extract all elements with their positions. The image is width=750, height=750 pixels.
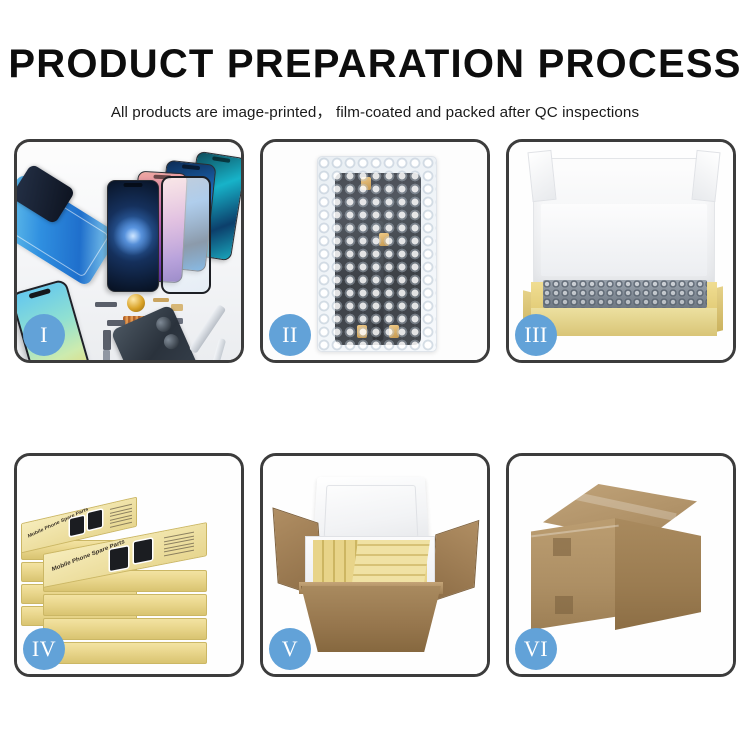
step-badge-6: VI	[515, 628, 557, 670]
product-preparation-infographic: PRODUCT PREPARATION PROCESS All products…	[0, 0, 750, 750]
step-badge-2: II	[269, 314, 311, 356]
step-3-image: III	[509, 142, 733, 360]
header: PRODUCT PREPARATION PROCESS All products…	[0, 0, 750, 122]
step-2-image: II	[263, 142, 487, 360]
part-connector-1	[95, 302, 117, 307]
step-1-image: I	[17, 142, 241, 360]
carton-right-face	[615, 518, 701, 630]
step-6-image: VI	[509, 456, 733, 674]
process-step-1: I	[14, 139, 244, 363]
page-subtitle: All products are image-printed， film-coa…	[0, 84, 750, 122]
step-badge-5: V	[269, 628, 311, 670]
stacked-box	[43, 618, 207, 640]
carton-tape-seal-bottom	[555, 596, 573, 614]
gold-tab-4	[389, 325, 399, 338]
process-step-2: II	[260, 139, 490, 363]
process-step-grid: I II	[14, 139, 736, 677]
carton-body	[301, 586, 441, 652]
part-battery	[103, 350, 110, 360]
step-5-image: V	[263, 456, 487, 674]
gold-coil-icon	[127, 294, 145, 312]
page-title: PRODUCT PREPARATION PROCESS	[0, 0, 750, 84]
phone-fan-group	[87, 150, 237, 295]
step-badge-3: III	[515, 314, 557, 356]
step-badge-1: I	[23, 314, 65, 356]
carton-tape-seal-top	[553, 538, 571, 556]
process-step-4: Mobile Phone Spare Parts	[14, 453, 244, 677]
step-4-image: Mobile Phone Spare Parts	[17, 456, 241, 674]
wrapped-phone-part	[335, 173, 421, 345]
gold-tab-1	[361, 177, 371, 190]
gold-tab-2	[379, 233, 389, 246]
kraft-box-front-panel	[531, 308, 717, 336]
tempered-glass-protector-icon	[161, 176, 211, 294]
step-badge-4: IV	[23, 628, 65, 670]
stacked-box	[43, 594, 207, 616]
box-stack-right: Mobile Phone Spare Parts	[43, 538, 211, 668]
bubble-wrap-bag	[317, 156, 437, 352]
phone-display-1	[107, 180, 159, 292]
process-step-3: III	[506, 139, 736, 363]
part-connector-2	[153, 298, 169, 302]
process-step-6: VI	[506, 453, 736, 677]
camera-lens-1-icon	[154, 314, 174, 334]
camera-lens-2-icon	[162, 332, 182, 352]
process-step-5: V	[260, 453, 490, 677]
box-label-screen-1	[70, 516, 84, 536]
stacked-box	[43, 642, 207, 664]
foam-sheet	[541, 204, 707, 276]
part-flex-1	[103, 330, 111, 350]
grey-bubble-cushion	[543, 280, 707, 308]
box-label-screen-2	[134, 539, 152, 563]
packed-boxes-row-2	[352, 540, 430, 584]
box-label-screen-1	[110, 546, 128, 570]
gold-tab-3	[357, 325, 367, 338]
box-label-screen-2	[88, 510, 102, 530]
